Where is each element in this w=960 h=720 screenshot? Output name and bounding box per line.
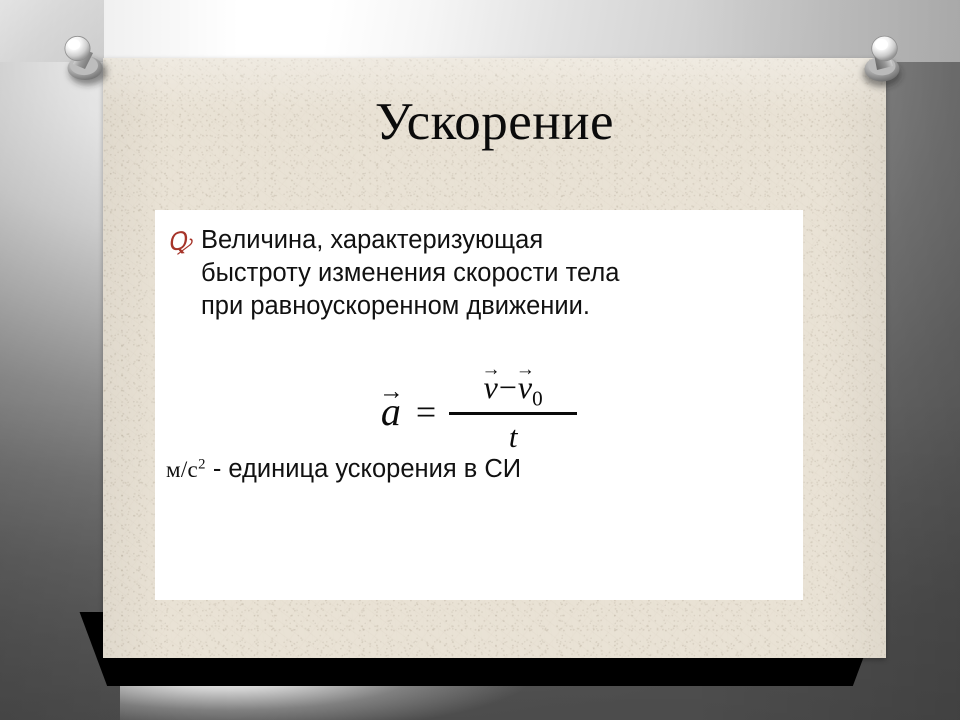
acceleration-formula: → a = → v − → v 0 t xyxy=(155,368,803,456)
units-base: м/с xyxy=(166,457,198,482)
units-description: - единица ускорения в СИ xyxy=(206,455,521,483)
formula-vector-v0: → v xyxy=(518,368,532,406)
page-title: Ускорение xyxy=(103,92,886,152)
content-panel: Ꝙ Величина, характеризующая быстроту изм… xyxy=(155,210,803,600)
pushpin-icon-left xyxy=(48,24,124,100)
slide-canvas: Ускорение Ꝙ Величина, характеризующая бы… xyxy=(0,0,960,720)
formula-vector-v: → v xyxy=(484,368,498,406)
units-exponent: 2 xyxy=(198,456,206,472)
bullet-text: Величина, характеризующая быстроту измен… xyxy=(201,224,631,323)
formula-lhs-symbol: a xyxy=(381,389,401,434)
formula-denominator: t xyxy=(509,415,518,456)
formula-fraction: → v − → v 0 t xyxy=(449,368,577,456)
formula-v0-subscript: 0 xyxy=(532,386,543,410)
formula-minus-sign: − xyxy=(499,369,517,405)
formula-numerator: → v − → v 0 xyxy=(479,368,548,412)
bullet-glyph-icon: Ꝙ xyxy=(163,222,203,261)
units-symbol: м/с2 xyxy=(166,457,206,482)
formula-equals-sign: = xyxy=(416,390,436,434)
bullet-item: Ꝙ Величина, характеризующая быстроту изм… xyxy=(165,224,793,323)
pushpin-icon-right xyxy=(846,24,922,100)
formula-lhs-vector-a: → a xyxy=(381,390,401,434)
formula-v-symbol: v xyxy=(484,369,498,405)
units-line: м/с2 - единица ускорения в СИ xyxy=(166,455,796,484)
formula-v0-symbol: v xyxy=(518,369,532,405)
